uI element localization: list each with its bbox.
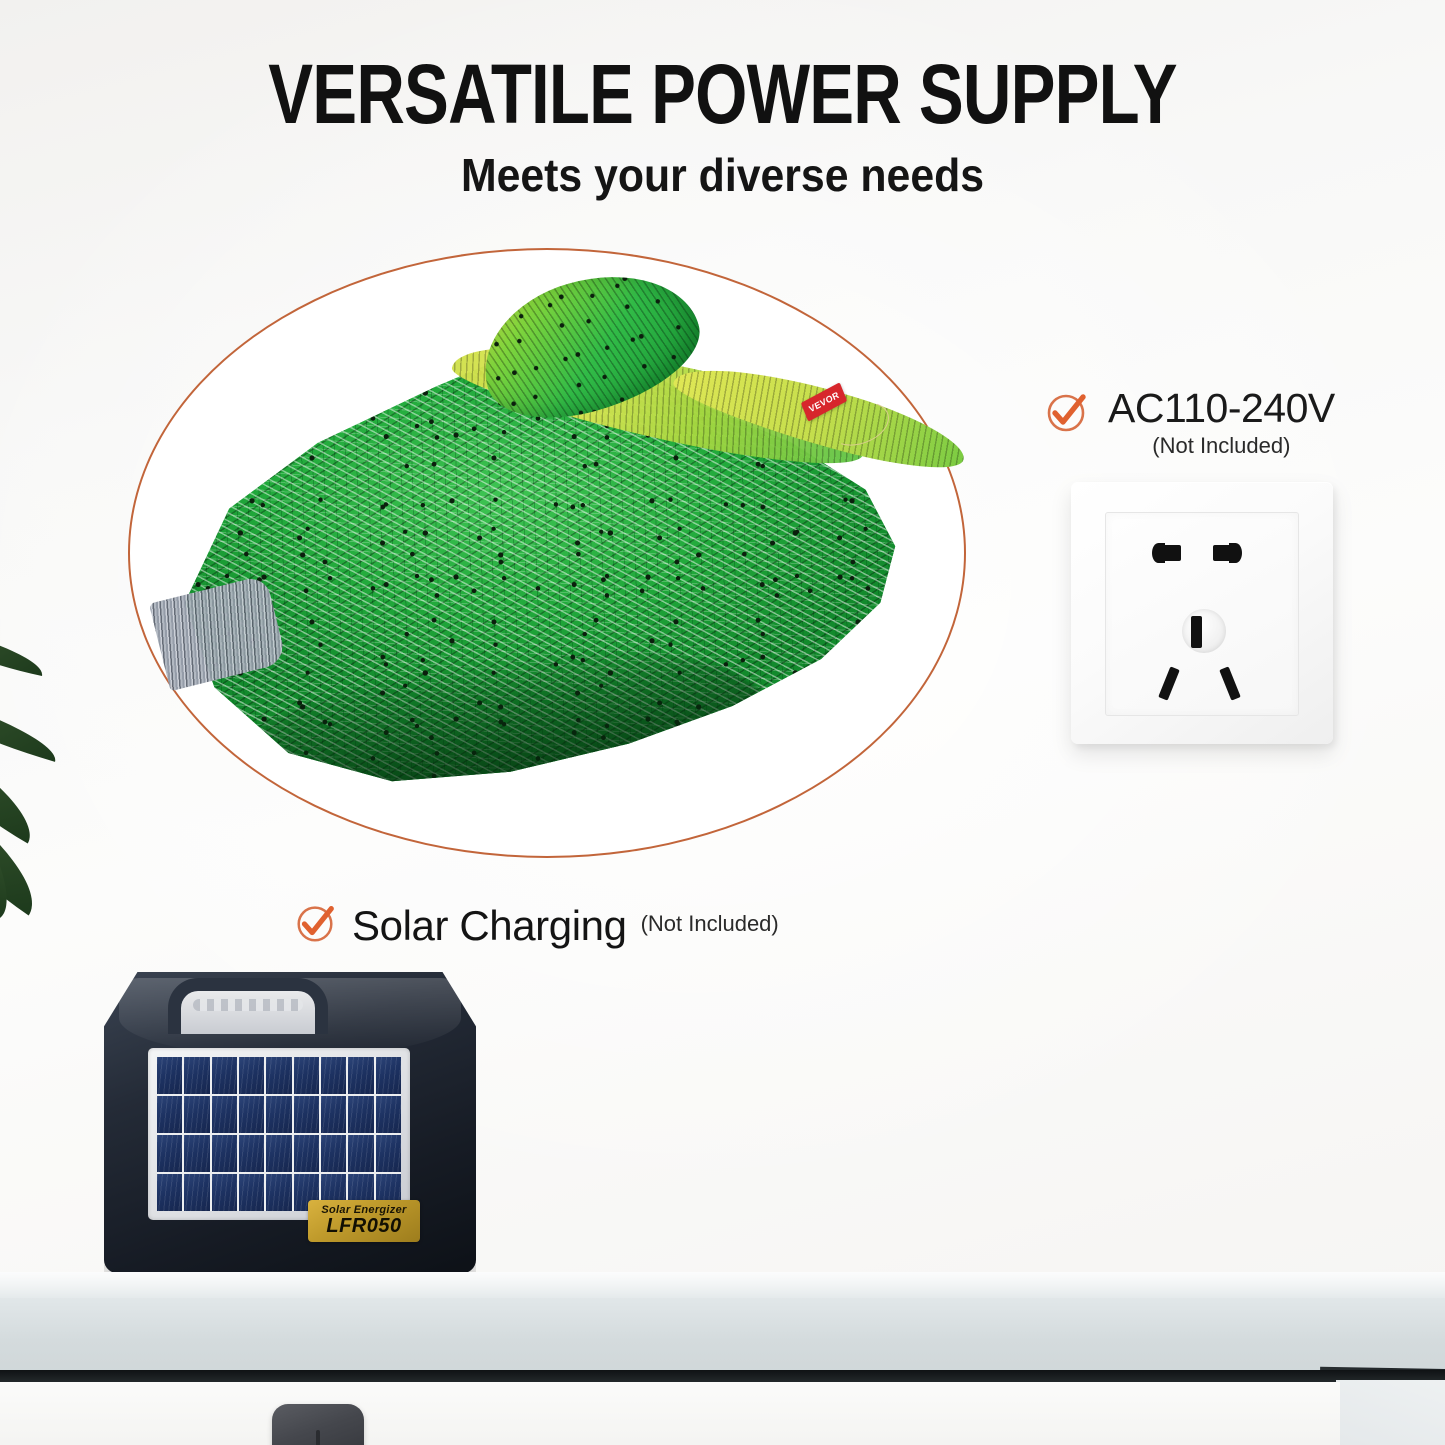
outlet-slot-top-right: [1213, 545, 1233, 561]
solar-cell: [266, 1057, 291, 1094]
solar-cell: [376, 1135, 401, 1172]
solar-cell: [212, 1135, 237, 1172]
solar-panel-frame: [148, 1048, 410, 1220]
outlet-center-recess: [1182, 609, 1226, 653]
solar-cell: [239, 1096, 264, 1133]
solar-cell: [294, 1135, 319, 1172]
solar-cell: [321, 1135, 346, 1172]
solar-cell: [184, 1135, 209, 1172]
solar-cell: [376, 1057, 401, 1094]
outlet-inner-plate: [1105, 512, 1299, 716]
outlet-slot-top-left: [1161, 545, 1181, 561]
product-oval-frame: [128, 248, 966, 858]
solar-cell: [321, 1096, 346, 1133]
solar-cell: [212, 1057, 237, 1094]
page-subtitle: Meets your diverse needs: [51, 148, 1395, 202]
page-title: VERSATILE POWER SUPPLY: [145, 52, 1301, 136]
solar-cell: [348, 1057, 373, 1094]
cabinet-front-right: [1336, 1380, 1445, 1445]
solar-cell: [184, 1174, 209, 1211]
cabinet-drawer-handle[interactable]: [272, 1404, 364, 1445]
energizer-handle-grip: [193, 999, 303, 1011]
solar-cell: [157, 1096, 182, 1133]
outlet-slot-bottom-right: [1219, 666, 1241, 700]
cabinet-handle-notch: [316, 1430, 320, 1445]
feature-solar-note: (Not Included): [641, 911, 779, 941]
check-circle-icon: [292, 900, 338, 951]
check-circle-icon: [1042, 388, 1090, 441]
feature-solar-charging: Solar Charging (Not Included): [292, 900, 779, 951]
solar-cell: [157, 1135, 182, 1172]
feature-solar-label: Solar Charging: [352, 902, 627, 950]
leaf: [0, 626, 47, 676]
solar-cell: [239, 1057, 264, 1094]
solar-cell: [294, 1096, 319, 1133]
cabinet-drawer-gap: [0, 1370, 1445, 1382]
wall-outlet[interactable]: [1071, 482, 1333, 744]
product-marketing-image: VERSATILE POWER SUPPLY Meets your divers…: [0, 0, 1445, 1445]
leaf: [0, 692, 63, 762]
solar-cell: [348, 1135, 373, 1172]
solar-cell: [157, 1174, 182, 1211]
outlet-slot-bottom-left: [1158, 666, 1180, 700]
solar-cell: [376, 1096, 401, 1133]
solar-cell: [212, 1174, 237, 1211]
solar-cell: [321, 1057, 346, 1094]
solar-cell: [212, 1096, 237, 1133]
solar-cell: [266, 1096, 291, 1133]
solar-cell: [184, 1096, 209, 1133]
feature-ac-note: (Not Included): [1108, 433, 1335, 459]
energizer-badge-model: LFR050: [326, 1216, 401, 1237]
solar-cell: [239, 1174, 264, 1211]
energizer-badge: Solar Energizer LFR050: [308, 1200, 420, 1242]
solar-cell: [294, 1057, 319, 1094]
energizer-carry-handle: [168, 978, 328, 1034]
cabinet-top-highlight: [0, 1272, 1445, 1298]
solar-cell: [157, 1057, 182, 1094]
outlet-slot-center: [1191, 616, 1202, 648]
cabinet-drawer-front: [0, 1382, 1340, 1445]
solar-cell: [266, 1135, 291, 1172]
plant-leaves: [0, 620, 180, 980]
solar-cell: [184, 1057, 209, 1094]
solar-cell: [348, 1096, 373, 1133]
solar-panel-cells: [157, 1057, 401, 1211]
solar-cell: [239, 1135, 264, 1172]
feature-ac-label: AC110-240V: [1108, 388, 1335, 430]
feature-ac-power: AC110-240V (Not Included): [1042, 388, 1335, 459]
solar-energizer[interactable]: Solar Energizer LFR050: [104, 972, 476, 1274]
solar-cell: [266, 1174, 291, 1211]
